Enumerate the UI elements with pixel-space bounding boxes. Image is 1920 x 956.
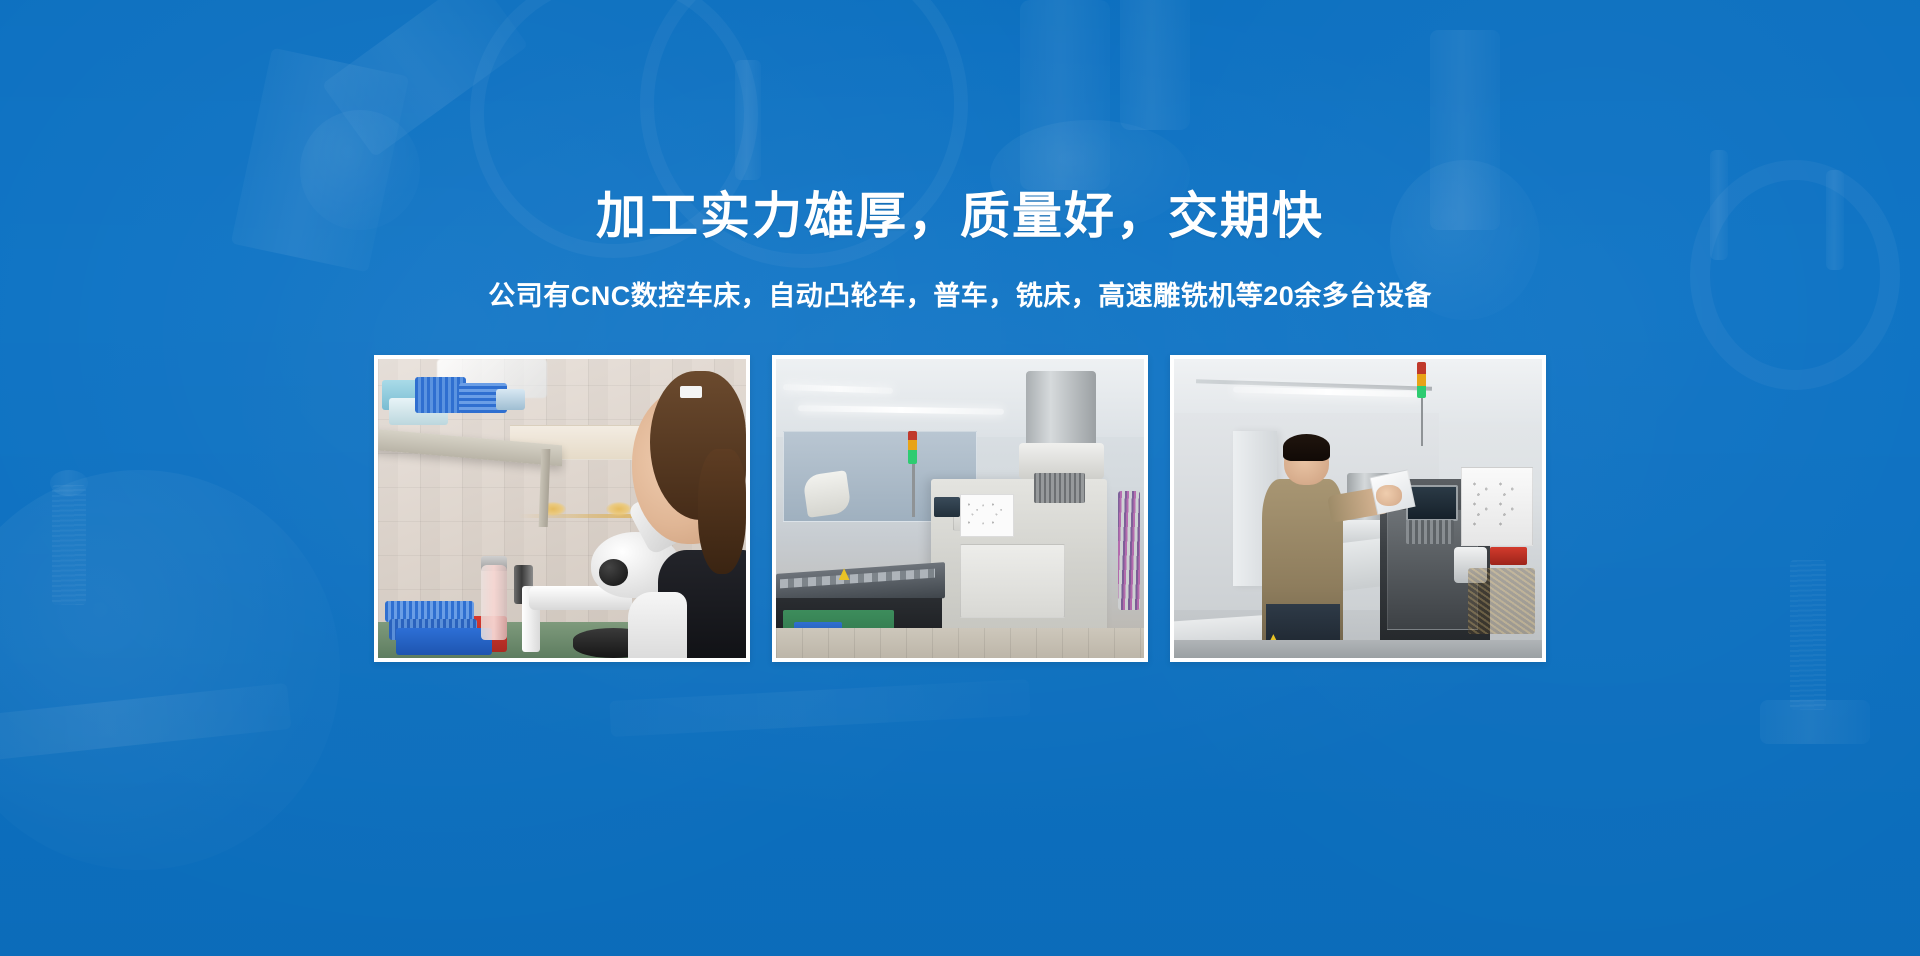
ghost-part-screw-right-head — [1760, 700, 1870, 744]
photo1-border-flower-2 — [606, 502, 632, 516]
photo3-metal-chips — [1468, 568, 1534, 634]
photo1-basket-clear — [496, 389, 525, 410]
photo3-control-keypad — [1406, 520, 1454, 544]
ghost-part-cyl-mid-b — [1120, 0, 1190, 130]
photo3-operator-hand — [1376, 485, 1402, 506]
photo2-cable-bundle — [1118, 491, 1140, 611]
photo2-machine-access-panel — [960, 544, 1065, 618]
photo-cnc-lathe-workshop — [776, 359, 1144, 658]
photo2-tiled-floor — [776, 628, 1144, 658]
banner-text-block: 加工实力雄厚，质量好，交期快 公司有CNC数控车床，自动凸轮车，普车，铣床，高速… — [0, 188, 1920, 312]
banner-section: 加工实力雄厚，质量好，交期快 公司有CNC数控车床，自动凸轮车，普车，铣床，高速… — [0, 0, 1920, 956]
photo3-red-label — [1490, 547, 1527, 565]
page-subtitle: 公司有CNC数控车床，自动凸轮车，普车，铣床，高速雕铣机等20余多台设备 — [0, 280, 1920, 312]
photo2-instruction-board-marks — [964, 500, 1004, 527]
photo-frame-2[interactable] — [772, 355, 1148, 662]
photo-frame-3[interactable] — [1170, 355, 1546, 662]
photo-frame-1[interactable] — [374, 355, 750, 662]
photo2-chip-collector — [1026, 371, 1096, 449]
photo1-worker-ponytail — [698, 449, 746, 575]
photo2-signal-tower-pole — [912, 464, 915, 518]
photo3-floor — [1174, 640, 1542, 658]
page-title: 加工实力雄厚，质量好，交期快 — [0, 188, 1920, 244]
ghost-part-block-b — [322, 0, 529, 157]
photo1-worker-hair-clip — [680, 386, 702, 398]
photo2-chip-collector-sleeve — [1034, 473, 1086, 503]
photo-operator-at-cnc — [1174, 359, 1542, 658]
photo3-signal-tower-pole — [1421, 398, 1424, 446]
photo1-water-bottle — [481, 565, 507, 640]
photo3-signal-tower-light — [1417, 362, 1427, 398]
photo2-control-screen — [934, 497, 960, 518]
photo1-blue-parts-tray — [396, 628, 492, 655]
photo-microscope-inspection — [378, 359, 746, 658]
photo3-instruction-panel-marks — [1468, 479, 1523, 527]
ghost-part-shaft-bottom-b — [609, 679, 1030, 737]
photo-gallery — [0, 355, 1920, 662]
photo2-signal-tower-light — [908, 431, 917, 464]
ghost-part-pin-center — [735, 60, 761, 180]
photo1-worker-shirt — [628, 592, 687, 658]
ghost-part-cyl-mid-a — [1020, 0, 1110, 190]
ghost-part-shaft-bottom — [0, 683, 292, 763]
photo3-operator-hair — [1283, 434, 1331, 461]
